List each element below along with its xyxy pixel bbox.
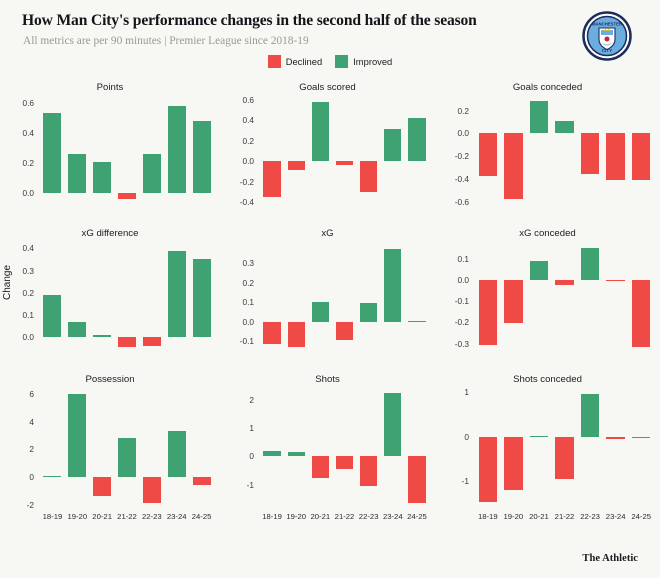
x-tick-label: 24-25 — [631, 512, 651, 521]
bar — [530, 436, 548, 437]
bar — [384, 129, 401, 162]
y-tick-label: -0.2 — [437, 151, 469, 161]
y-tick-label: 0.1 — [222, 297, 254, 307]
source-credit: The Athletic — [582, 553, 638, 564]
y-tick-label: -1 — [437, 476, 469, 486]
x-tick-label: 18-19 — [262, 512, 282, 521]
legend-swatch-declined — [268, 55, 281, 68]
x-tick-label: 20-21 — [311, 512, 331, 521]
plot-area: -2024618-1919-2020-2121-2222-2323-2424-2… — [40, 390, 214, 506]
y-tick-label: 0 — [2, 472, 34, 482]
y-tick-label: 0.0 — [222, 317, 254, 327]
x-tick-label: 23-24 — [606, 512, 626, 521]
bar — [143, 337, 161, 346]
chart-panel-possession: Possession-2024618-1919-2020-2121-2222-2… — [0, 368, 220, 546]
plot-area: -0.3-0.2-0.10.00.1 — [475, 244, 654, 350]
chart-title: Possession — [0, 374, 220, 385]
y-tick-label: 0.3 — [222, 258, 254, 268]
legend-swatch-improved — [335, 55, 348, 68]
y-tick-label: 0.0 — [437, 128, 469, 138]
y-tick-label: 0.2 — [222, 278, 254, 288]
chart-title: xG difference — [0, 228, 220, 239]
plot-area: -0.10.00.10.20.3 — [260, 244, 429, 350]
page-subtitle: All metrics are per 90 minutes | Premier… — [23, 35, 309, 47]
bar — [143, 154, 161, 193]
y-tick-label: 0.2 — [2, 158, 34, 168]
y-tick-label: -0.4 — [437, 174, 469, 184]
bar — [288, 452, 305, 456]
bar — [263, 451, 280, 457]
y-tick-label: 0.2 — [222, 136, 254, 146]
chart-title: xG conceded — [435, 228, 660, 239]
plot-area: -0.4-0.20.00.20.40.6 — [260, 98, 429, 204]
y-tick-label: 6 — [2, 389, 34, 399]
bar — [263, 161, 280, 197]
legend: Declined Improved — [0, 55, 660, 68]
bar — [555, 437, 573, 479]
bar — [479, 280, 497, 345]
y-tick-label: -0.4 — [222, 197, 254, 207]
chart-panel-goals-scored: Goals scored-0.4-0.20.00.20.40.6 — [220, 76, 435, 222]
bar — [336, 322, 353, 340]
y-tick-label: 0.0 — [2, 332, 34, 342]
x-tick-label: 19-20 — [67, 512, 87, 521]
bar — [581, 248, 599, 280]
bar — [118, 193, 136, 199]
bar — [68, 154, 86, 193]
x-tick-label: 23-24 — [167, 512, 187, 521]
bar — [384, 393, 401, 457]
y-tick-label: -0.3 — [437, 339, 469, 349]
bar — [606, 133, 624, 180]
bar — [479, 437, 497, 502]
y-tick-label: 2 — [222, 395, 254, 405]
bar — [581, 133, 599, 174]
bar — [68, 394, 86, 477]
chart-title: Goals scored — [220, 82, 435, 93]
plot-area: 0.00.10.20.30.4 — [40, 244, 214, 350]
y-tick-label: -0.2 — [437, 317, 469, 327]
x-tick-label: 22-23 — [142, 512, 162, 521]
bar — [504, 280, 522, 323]
y-tick-label: 4 — [2, 417, 34, 427]
x-tick-label: 18-19 — [43, 512, 63, 521]
y-tick-label: 0 — [437, 432, 469, 442]
bar — [530, 261, 548, 280]
bar — [408, 321, 425, 322]
bar — [336, 456, 353, 469]
manchester-city-crest-icon: MANCHESTER CITY — [582, 11, 632, 61]
chart-panel-xg-difference: xG difference0.00.10.20.30.4 — [0, 222, 220, 368]
bar — [93, 335, 111, 337]
bar — [336, 161, 353, 165]
bar — [530, 101, 548, 133]
x-tick-label: 21-22 — [555, 512, 575, 521]
y-tick-label: -0.1 — [437, 296, 469, 306]
bar — [118, 337, 136, 347]
bar — [263, 322, 280, 344]
bar — [360, 303, 377, 321]
bar — [360, 161, 377, 192]
bar — [408, 456, 425, 503]
y-tick-label: 0.0 — [2, 188, 34, 198]
bar — [312, 302, 329, 321]
x-tick-label: 21-22 — [117, 512, 137, 521]
plot-area: -0.6-0.4-0.20.00.2 — [475, 98, 654, 204]
bar — [288, 322, 305, 347]
y-tick-label: 0.4 — [2, 128, 34, 138]
y-tick-label: -2 — [2, 500, 34, 510]
bar — [504, 133, 522, 199]
y-tick-label: 0.0 — [222, 156, 254, 166]
x-tick-label: 19-20 — [504, 512, 524, 521]
bar — [93, 162, 111, 194]
bar — [168, 431, 186, 477]
x-tick-label: 21-22 — [335, 512, 355, 521]
bar — [555, 121, 573, 134]
plot-area: -101218-1919-2020-2121-2222-2323-2424-25 — [260, 390, 429, 506]
bar — [479, 133, 497, 175]
bar — [43, 113, 61, 193]
y-tick-label: 0 — [222, 451, 254, 461]
y-tick-label: -0.1 — [222, 336, 254, 346]
bar — [606, 437, 624, 439]
plot-area: -10118-1919-2020-2121-2222-2323-2424-25 — [475, 390, 654, 506]
bar — [93, 477, 111, 496]
bar — [312, 456, 329, 477]
y-tick-label: 1 — [437, 387, 469, 397]
x-tick-label: 23-24 — [383, 512, 403, 521]
y-tick-label: 0.1 — [2, 310, 34, 320]
x-tick-label: 18-19 — [478, 512, 498, 521]
bar — [168, 251, 186, 337]
bar — [193, 477, 211, 485]
y-tick-label: 0.2 — [437, 106, 469, 116]
y-tick-label: 1 — [222, 423, 254, 433]
y-tick-label: 0.6 — [2, 98, 34, 108]
bar — [504, 437, 522, 491]
x-tick-label: 22-23 — [359, 512, 379, 521]
chart-page: How Man City's performance changes in th… — [0, 0, 660, 578]
chart-panel-xg-conceded: xG conceded-0.3-0.2-0.10.00.1 — [435, 222, 660, 368]
bar — [168, 106, 186, 194]
x-tick-label: 24-25 — [407, 512, 427, 521]
y-tick-label: 0.4 — [222, 115, 254, 125]
bar — [632, 133, 650, 180]
svg-text:MANCHESTER: MANCHESTER — [592, 22, 622, 27]
y-tick-label: 0.4 — [2, 243, 34, 253]
bar — [193, 121, 211, 194]
x-tick-label: 20-21 — [92, 512, 112, 521]
bar — [632, 280, 650, 347]
chart-panel-goals-conceded: Goals conceded-0.6-0.4-0.20.00.2 — [435, 76, 660, 222]
svg-text:CITY: CITY — [602, 48, 612, 53]
bar — [288, 161, 305, 170]
y-tick-label: 0.2 — [2, 288, 34, 298]
small-multiples-grid: Points0.00.20.40.6Goals scored-0.4-0.20.… — [0, 76, 660, 546]
bar — [118, 438, 136, 477]
chart-title: Points — [0, 82, 220, 93]
bar — [360, 456, 377, 486]
plot-area: 0.00.20.40.6 — [40, 98, 214, 204]
chart-panel-points: Points0.00.20.40.6 — [0, 76, 220, 222]
chart-title: xG — [220, 228, 435, 239]
legend-label-improved: Improved — [353, 56, 392, 67]
y-tick-label: 2 — [2, 444, 34, 454]
bar — [384, 249, 401, 322]
y-tick-label: -1 — [222, 480, 254, 490]
bar — [143, 477, 161, 503]
chart-title: Shots — [220, 374, 435, 385]
page-title: How Man City's performance changes in th… — [22, 12, 477, 30]
bar — [606, 280, 624, 281]
bar — [312, 102, 329, 161]
legend-item-declined: Declined — [268, 55, 322, 68]
y-tick-label: -0.2 — [222, 177, 254, 187]
legend-label-declined: Declined — [286, 56, 322, 67]
bar — [43, 476, 61, 477]
y-tick-label: -0.6 — [437, 197, 469, 207]
chart-panel-shots: Shots-101218-1919-2020-2121-2222-2323-24… — [220, 368, 435, 546]
x-tick-label: 20-21 — [529, 512, 549, 521]
bar — [408, 118, 425, 161]
chart-title: Goals conceded — [435, 82, 660, 93]
bar — [43, 295, 61, 337]
y-tick-label: 0.3 — [2, 266, 34, 276]
x-tick-label: 19-20 — [286, 512, 306, 521]
y-tick-label: 0.0 — [437, 275, 469, 285]
y-tick-label: 0.6 — [222, 95, 254, 105]
x-tick-label: 22-23 — [580, 512, 600, 521]
bar — [581, 394, 599, 437]
y-tick-label: 0.1 — [437, 254, 469, 264]
legend-item-improved: Improved — [335, 55, 392, 68]
chart-title: Shots conceded — [435, 374, 660, 385]
bar — [193, 259, 211, 336]
chart-panel-shots-conceded: Shots conceded-10118-1919-2020-2121-2222… — [435, 368, 660, 546]
x-tick-label: 24-25 — [192, 512, 212, 521]
bar — [68, 322, 86, 336]
chart-panel-xg: xG-0.10.00.10.20.3 — [220, 222, 435, 368]
bar — [632, 437, 650, 438]
bar — [555, 280, 573, 285]
